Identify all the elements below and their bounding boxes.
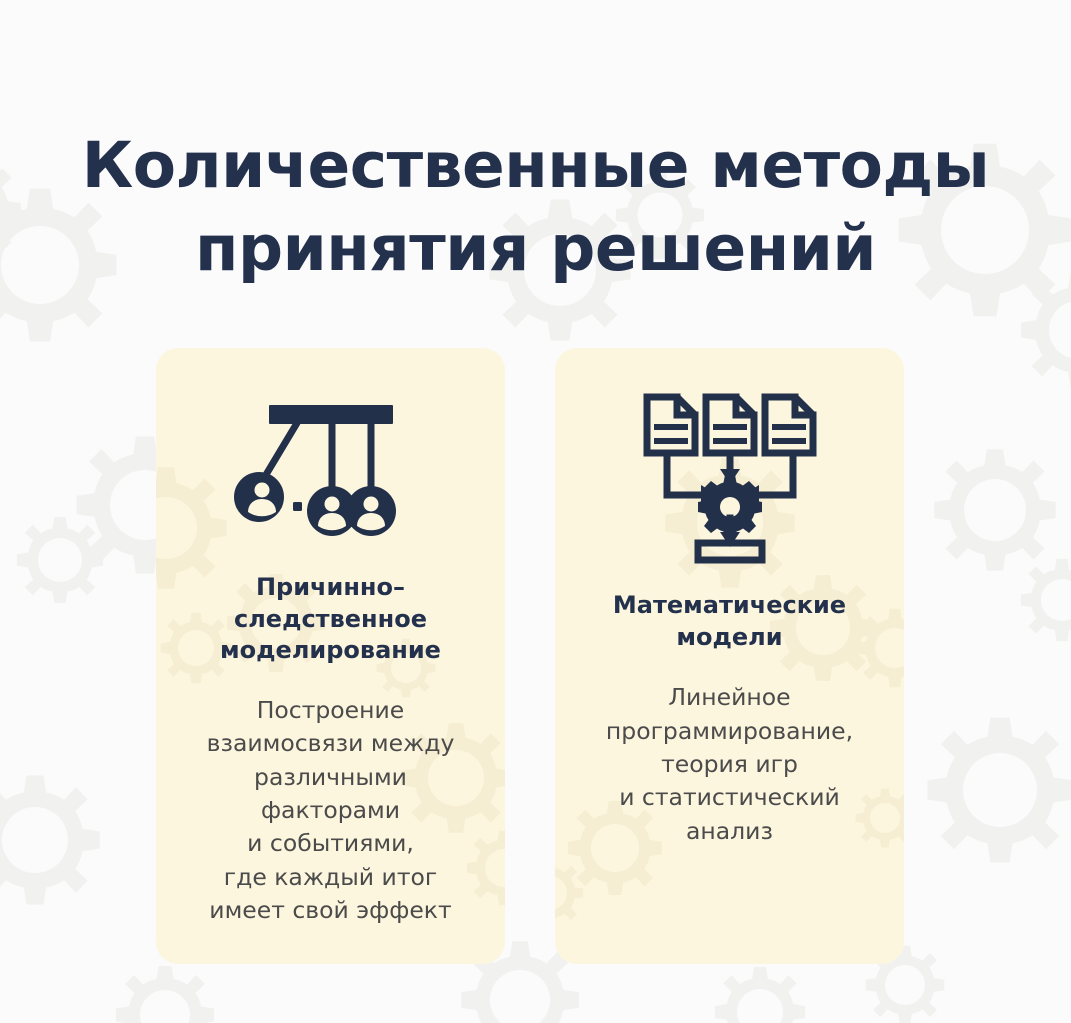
card-body-mathematical-models: Линейное программирование, теория игр и … — [590, 681, 869, 848]
card-title-line: Математические — [613, 590, 846, 622]
page-title-line-1: Количественные методы — [0, 124, 1071, 207]
page-title-line-2: принятия решений — [0, 207, 1071, 290]
card-title-line: Причинно– — [220, 572, 441, 604]
card-title-line: следственное — [220, 604, 441, 636]
card-body-line: Построение — [207, 694, 455, 727]
cards-container: Причинно– следственное моделирование Пос… — [156, 348, 905, 964]
card-body-line: факторами — [207, 794, 455, 827]
card-body-line: где каждый итог — [207, 861, 455, 894]
card-cause-effect-modeling[interactable]: Причинно– следственное моделирование Пос… — [156, 348, 505, 964]
infographic-page: Количественные методы принятия решений — [0, 0, 1071, 1023]
card-title-cause-effect-modeling: Причинно– следственное моделирование — [206, 572, 455, 667]
newtons-cradle-people-icon — [231, 386, 431, 566]
card-body-cause-effect-modeling: Построение взаимосвязи между различными … — [191, 694, 471, 928]
card-body-line: и статистический — [606, 781, 853, 814]
card-body-line: анализ — [606, 815, 853, 848]
card-body-line: взаимосвязи между — [207, 727, 455, 760]
documents-to-gear-process-icon — [641, 388, 819, 568]
card-body-line: имеет свой эффект — [207, 894, 455, 927]
card-title-mathematical-models: Математические модели — [599, 590, 860, 653]
card-body-line: различными — [207, 761, 455, 794]
card-body-line: Линейное — [606, 681, 853, 714]
card-mathematical-models[interactable]: Математические модели Линейное программи… — [555, 348, 904, 964]
card-title-line: моделирование — [220, 635, 441, 667]
card-title-line: модели — [613, 622, 846, 654]
card-body-line: программирование, — [606, 715, 853, 748]
card-body-line: и событиями, — [207, 827, 455, 860]
page-title: Количественные методы принятия решений — [0, 124, 1071, 290]
card-body-line: теория игр — [606, 748, 853, 781]
